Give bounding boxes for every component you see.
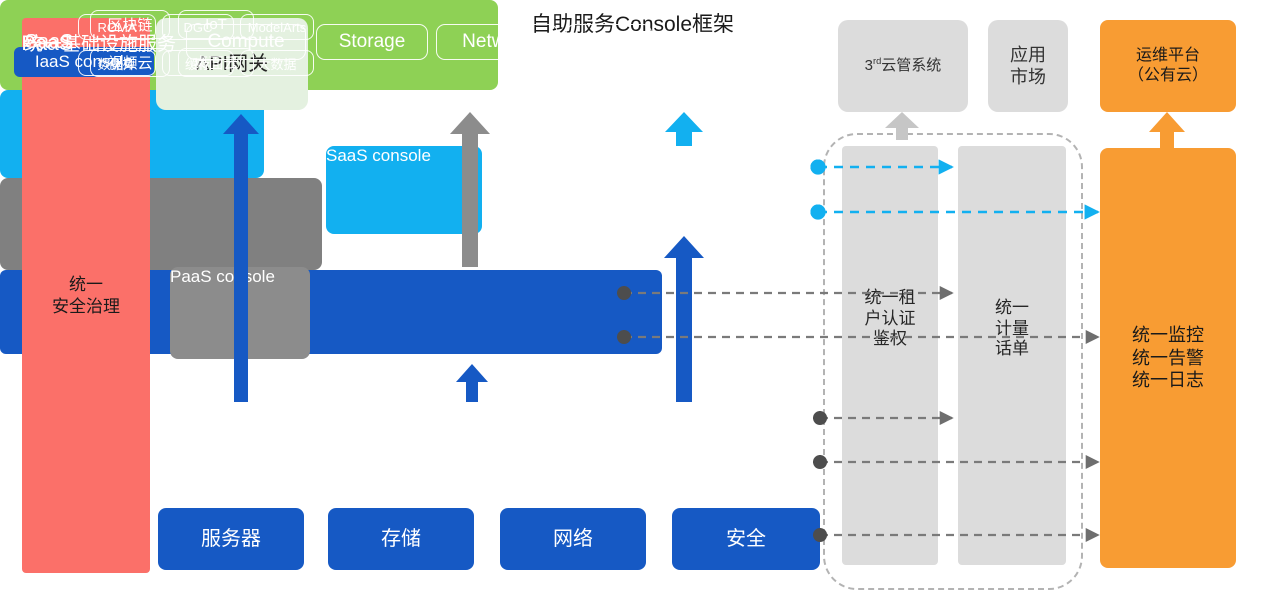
hardware-item-storage[interactable]: 存储	[328, 508, 474, 570]
infra-item-compute[interactable]: Compute	[186, 24, 306, 60]
hardware-item-server[interactable]: 服务器	[158, 508, 304, 570]
unified-security-governance-panel: 统一安全治理	[22, 18, 150, 573]
infra-item-storage[interactable]: Storage	[316, 24, 428, 60]
unified-metering-billing-label: 统一计量话单	[958, 298, 1066, 360]
unified-tenant-auth-bar: 统一租户认证鉴权	[842, 146, 938, 565]
unified-monitoring-label: 统一监控统一告警统一日志	[1132, 324, 1204, 392]
arrow-to-ops-platform	[1149, 112, 1185, 148]
third-party-cloud-management-box: 3rd云管系统	[838, 20, 968, 112]
arrow-infra-to-saas	[664, 236, 704, 402]
unified-infrastructure-label: 统一基础设施服务	[14, 29, 186, 56]
hardware-item-security[interactable]: 安全	[672, 508, 820, 570]
arrow-infra-to-paas	[456, 364, 488, 402]
saas-console-button[interactable]: SaaS console	[326, 146, 482, 234]
unified-metering-billing-bar: 统一计量话单	[958, 146, 1066, 565]
architecture-diagram: 统一安全治理 API网关 自助服务Console框架 IaaS console …	[0, 0, 1265, 605]
infra-item-cce[interactable]: CCE	[566, 24, 652, 60]
unified-tenant-auth-label: 统一租户认证鉴权	[842, 288, 938, 350]
paas-console-button[interactable]: PaaS console	[170, 267, 310, 359]
app-market-label: 应用市场	[1010, 44, 1046, 89]
app-market-box: 应用市场	[988, 20, 1068, 112]
ops-platform-label: 运维平台（公有云）	[1128, 46, 1208, 86]
arrow-saas-to-saas-console	[665, 112, 703, 146]
ops-platform-public-cloud-box: 运维平台（公有云）	[1100, 20, 1236, 112]
hardware-item-network[interactable]: 网络	[500, 508, 646, 570]
third-party-cloud-management-label: 3rd云管系统	[865, 56, 942, 76]
unified-security-governance-label: 统一安全治理	[52, 274, 120, 317]
infra-item-network[interactable]: Network	[436, 24, 558, 60]
unified-monitoring-panel: 统一监控统一告警统一日志	[1100, 148, 1236, 568]
